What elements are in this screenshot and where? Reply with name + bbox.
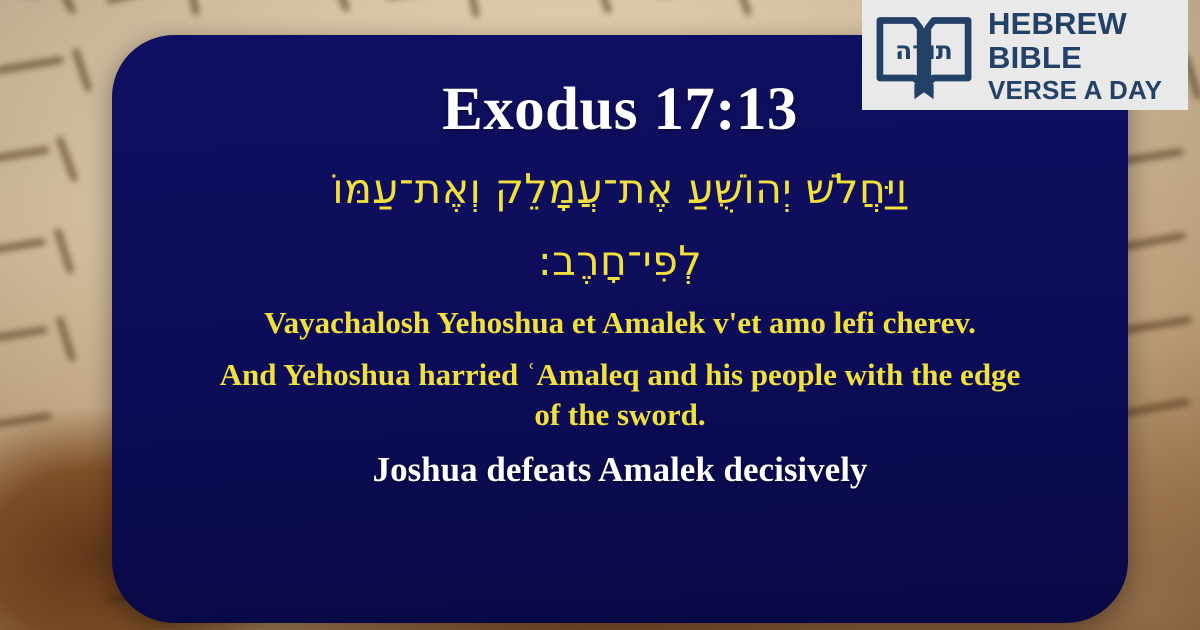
brand-line-hebrew: HEBREW <box>988 8 1162 39</box>
brand-logo-text: HEBREW BIBLE VERSE A DAY <box>988 8 1162 103</box>
brand-line-verse-a-day: VERSE A DAY <box>988 77 1162 103</box>
brand-line-bible: BIBLE <box>988 42 1162 73</box>
hebrew-verse-line-1: וַיַּחֲלֹשׁ יְהוֹשֻׁעַ אֶת־עֲמָלֵק וְאֶת… <box>168 156 1072 222</box>
open-book-torah-icon: תורה <box>872 9 976 101</box>
torah-word-glyph: תורה <box>895 36 953 65</box>
verse-image-canvas: Exodus 17:13 וַיַּחֲלֹשׁ יְהוֹשֻׁעַ אֶת־… <box>0 0 1200 630</box>
transliteration-text: Vayachalosh Yehoshua et Amalek v'et amo … <box>168 303 1072 343</box>
brand-logo-badge[interactable]: תורה HEBREW BIBLE VERSE A DAY <box>862 0 1188 110</box>
english-translation-text: And Yehoshua harried ʿAmaleq and his peo… <box>168 355 1072 436</box>
verse-card: Exodus 17:13 וַיַּחֲלֹשׁ יְהוֹשֻׁעַ אֶת־… <box>112 35 1128 623</box>
verse-summary-caption: Joshua defeats Amalek decisively <box>168 450 1072 490</box>
hebrew-verse-line-2: לְפִי־חָרֶב: <box>168 228 1072 294</box>
